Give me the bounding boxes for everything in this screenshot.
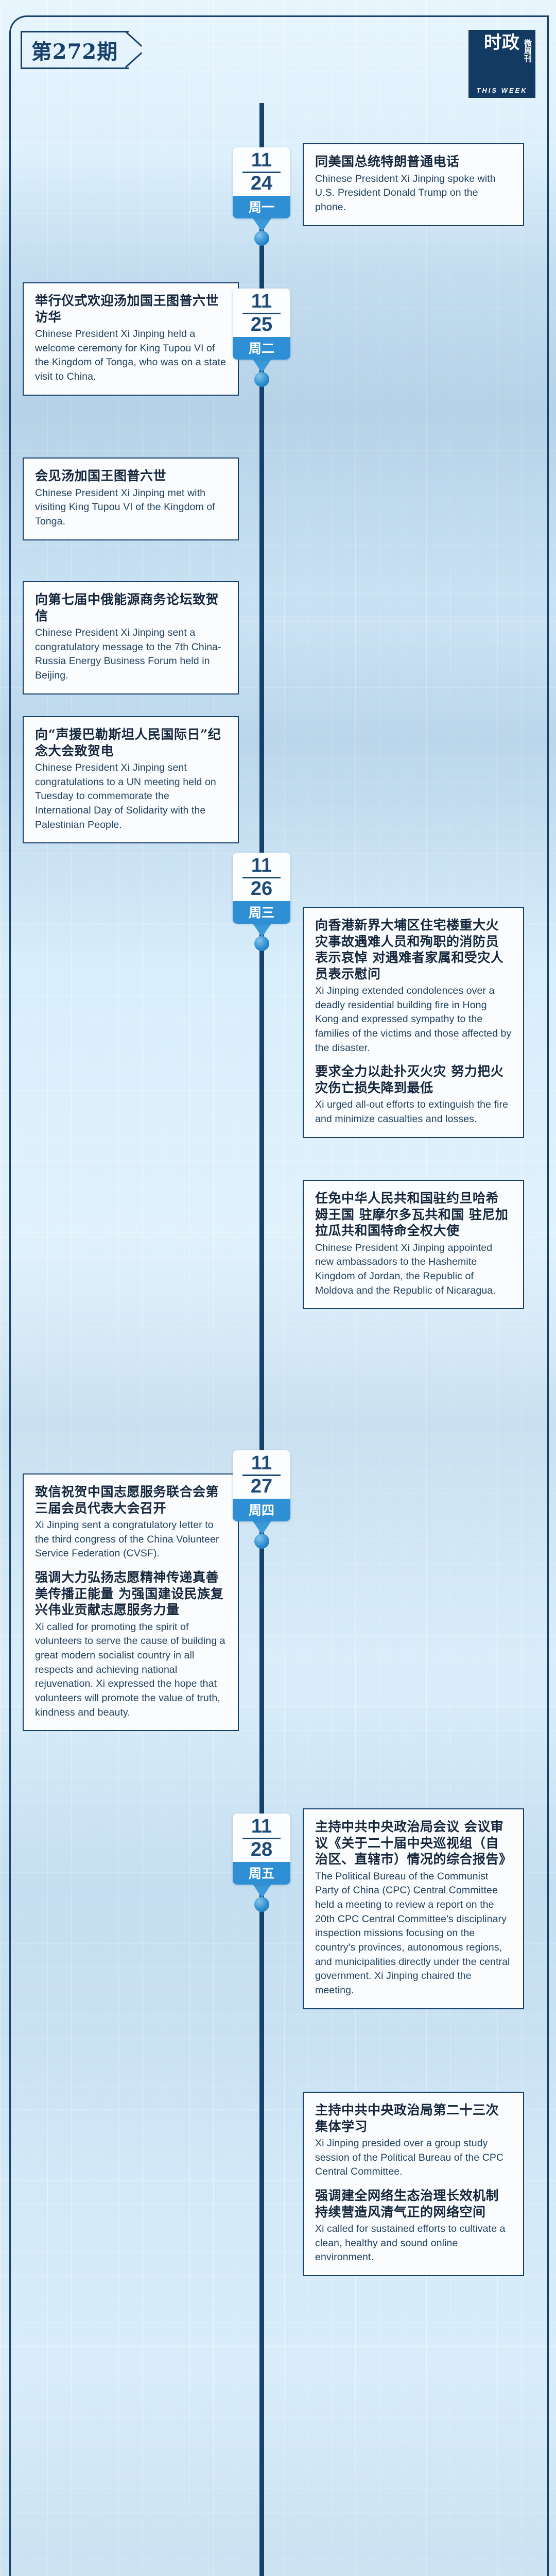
- date-chip-day: 26: [233, 879, 290, 901]
- card-body-en: Chinese President Xi Jinping sent congra…: [35, 761, 227, 832]
- date-chip-weekday: 周一: [233, 196, 290, 218]
- date-chip-pointer-icon: [252, 923, 272, 937]
- card-headline-cn: 向香港新界大埔区住宅楼重大火灾事故遇难人员和殉职的消防员表示哀悼 对遇难者家属和…: [315, 917, 512, 982]
- date-chip-weekday: 周五: [233, 1862, 290, 1885]
- date-chip-month: 11: [233, 147, 290, 171]
- background-photo-study-session: [0, 2370, 556, 2576]
- timeline-node-dot: [254, 1897, 269, 1912]
- date-chip-month: 11: [233, 853, 290, 876]
- date-chip-day: 25: [233, 315, 290, 337]
- timeline-node-dot: [254, 372, 269, 387]
- date-chip-pointer-icon: [252, 359, 272, 373]
- card-headline-cn: 任免中华人民共和国驻约旦哈希姆王国 驻摩尔多瓦共和国 驻尼加拉瓜共和国特命全权大…: [315, 1190, 512, 1239]
- brand-logo-en: THIS WEEK: [468, 87, 535, 94]
- issue-number-tag: 第272期: [21, 31, 129, 69]
- card-body-en: Xi urged all-out efforts to extinguish t…: [315, 1098, 512, 1126]
- timeline-card[interactable]: 会见汤加国王图普六世Chinese President Xi Jinping m…: [23, 457, 239, 540]
- date-chip-11-24: 1124周一: [233, 147, 290, 218]
- date-chip-month: 11: [233, 1814, 290, 1837]
- timeline-card[interactable]: 举行仪式欢迎汤加国王图普六世访华Chinese President Xi Jin…: [23, 282, 239, 396]
- card-headline-cn: 举行仪式欢迎汤加国王图普六世访华: [35, 293, 227, 325]
- card-body-en: Chinese President Xi Jinping held a welc…: [35, 327, 227, 384]
- card-headline-cn: 主持中共中央政治局会议 会议审议《关于二十届中央巡视组（自治区、直辖市）情况的综…: [315, 1819, 512, 1868]
- timeline-card[interactable]: 向第七届中俄能源商务论坛致贺信Chinese President Xi Jinp…: [23, 581, 239, 694]
- card-headline-cn: 强调建全网络生态治理长效机制 持续营造风清气正的网络空间: [315, 2188, 512, 2220]
- timeline-node-dot: [254, 1534, 269, 1549]
- brand-logo-sub: 微周刊: [523, 39, 531, 62]
- timeline-card[interactable]: 向“声援巴勒斯坦人民国际日”纪念大会致贺电Chinese President X…: [23, 716, 239, 843]
- card-body-en: Xi Jinping sent a congratulatory letter …: [35, 1518, 227, 1561]
- date-chip-month: 11: [233, 1450, 290, 1473]
- date-chip-pointer-icon: [252, 1520, 272, 1535]
- timeline-spine: [259, 103, 264, 2576]
- card-headline-cn: 要求全力以赴扑灭火灾 努力把火灾伤亡损失降到最低: [315, 1063, 512, 1096]
- date-chip-month: 11: [233, 289, 290, 312]
- card-body-en: Chinese President Xi Jinping met with vi…: [35, 486, 227, 529]
- timeline-card[interactable]: 同美国总统特朗普通电话Chinese President Xi Jinping …: [303, 143, 524, 226]
- date-chip-11-26: 1126周三: [233, 853, 290, 924]
- timeline-card[interactable]: 主持中共中央政治局第二十三次集体学习Xi Jinping presided ov…: [303, 2092, 524, 2276]
- brand-logo-cn: 时政: [484, 34, 520, 52]
- issue-number-label: 第272期: [21, 35, 129, 65]
- timeline-node-dot: [254, 231, 269, 246]
- card-body-en: The Political Bureau of the Communist Pa…: [315, 1870, 512, 1998]
- date-chip-weekday: 周四: [233, 1499, 290, 1521]
- brand-logo: 时政 微周刊 THIS WEEK: [468, 30, 535, 98]
- card-headline-cn: 向第七届中俄能源商务论坛致贺信: [35, 591, 227, 624]
- timeline-node-dot: [254, 936, 269, 951]
- date-chip-day: 24: [233, 174, 290, 196]
- date-chip-11-27: 1127周四: [233, 1450, 290, 1521]
- card-body-en: Xi Jinping presided over a group study s…: [315, 2137, 512, 2179]
- card-body-en: Chinese President Xi Jinping sent a cong…: [35, 626, 227, 683]
- timeline-card[interactable]: 向香港新界大埔区住宅楼重大火灾事故遇难人员和殉职的消防员表示哀悼 对遇难者家属和…: [303, 907, 524, 1138]
- date-chip-day: 28: [233, 1840, 290, 1862]
- card-body-en: Chinese President Xi Jinping spoke with …: [315, 172, 512, 215]
- date-chip-weekday: 周二: [233, 337, 290, 360]
- card-headline-cn: 致信祝贺中国志愿服务联合会第三届会员代表大会召开: [35, 1484, 227, 1516]
- date-chip-weekday: 周三: [233, 901, 290, 924]
- date-chip-day: 27: [233, 1477, 290, 1499]
- timeline-card[interactable]: 主持中共中央政治局会议 会议审议《关于二十届中央巡视组（自治区、直辖市）情况的综…: [303, 1808, 524, 2009]
- date-chip-11-25: 1125周二: [233, 289, 290, 360]
- timeline-card[interactable]: 任免中华人民共和国驻约旦哈希姆王国 驻摩尔多瓦共和国 驻尼加拉瓜共和国特命全权大…: [303, 1180, 524, 1309]
- date-chip-11-28: 1128周五: [233, 1814, 290, 1885]
- timeline-card[interactable]: 致信祝贺中国志愿服务联合会第三届会员代表大会召开Xi Jinping sent …: [23, 1473, 239, 1731]
- card-headline-cn: 强调大力弘扬志愿精神传递真善美传播正能量 为强国建设民族复兴伟业贡献志愿服务力量: [35, 1569, 227, 1618]
- card-body-en: Xi called for promoting the spirit of vo…: [35, 1620, 227, 1720]
- date-chip-pointer-icon: [252, 217, 272, 232]
- card-body-en: Xi Jinping extended condolences over a d…: [315, 984, 512, 1055]
- card-headline-cn: 向“声援巴勒斯坦人民国际日”纪念大会致贺电: [35, 726, 227, 759]
- card-body-en: Chinese President Xi Jinping appointed n…: [315, 1241, 512, 1298]
- card-body-en: Xi called for sustained efforts to culti…: [315, 2222, 512, 2265]
- date-chip-pointer-icon: [252, 1884, 272, 1898]
- card-headline-cn: 同美国总统特朗普通电话: [315, 154, 512, 170]
- poster-frame-right-edge: [547, 15, 549, 2576]
- card-headline-cn: 主持中共中央政治局第二十三次集体学习: [315, 2102, 512, 2134]
- card-headline-cn: 会见汤加国王图普六世: [35, 468, 227, 484]
